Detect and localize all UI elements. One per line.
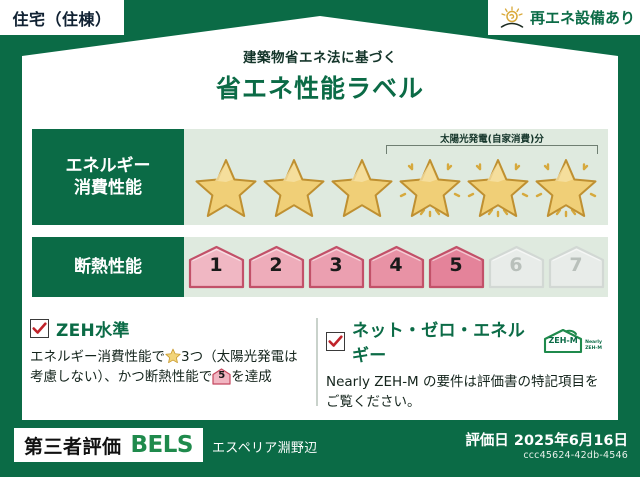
- insulation-performance-label: 断熱性能: [32, 237, 184, 297]
- grade-number: 2: [248, 256, 305, 275]
- energy-rating-body: 太陽光発電(自家消費)分: [184, 129, 608, 225]
- bels-certification-plate: 第三者評価 BELS: [14, 428, 203, 462]
- claim-zeh-header: ZEH水準: [30, 316, 306, 341]
- star-solar: [397, 152, 463, 218]
- property-name: エスペリア淵野辺: [212, 437, 318, 456]
- inline-grade-badge: 5: [212, 368, 231, 385]
- evaluation-id: ccc45624-42db-4546: [523, 450, 628, 461]
- claim-zeh-text3: を達成: [231, 369, 272, 385]
- page-title: 省エネ性能ラベル: [22, 69, 618, 105]
- star-filled: [193, 152, 259, 218]
- energy-performance-label: エネルギー 消費性能: [32, 129, 184, 225]
- badge-dwelling-type: 住宅（住棟）: [0, 0, 124, 35]
- zeh-m-sub-line2: ZEH-M: [585, 346, 602, 351]
- badge-renewable-label: 再エネ設備あり: [530, 7, 635, 28]
- grade-number: 7: [548, 256, 605, 275]
- energy-performance-label: 住宅（住棟） 再エネ設備あり 建築物省エネ法に基づく 省エネ性能ラベル: [0, 0, 640, 477]
- third-party-label: 第三者評価: [24, 432, 122, 459]
- claim-zeh-standard: ZEH水準 エネルギー消費性能で 3つ（太陽光発電は考慮しない）、かつ断熱性能で…: [30, 316, 306, 388]
- title-subtitle: 建築物省エネ法に基づく: [22, 46, 618, 66]
- grade-number: 1: [188, 256, 245, 275]
- inline-star-icon: [165, 348, 181, 364]
- insulation-label-text: 断熱性能: [74, 256, 142, 278]
- insulation-rating-body: 1 2 3 4 5 6 7: [184, 237, 608, 297]
- evaluation-date-value: 2025年6月16日: [514, 433, 628, 449]
- claim-zeh-body: エネルギー消費性能で 3つ（太陽光発電は考慮しない）、かつ断熱性能で 5を達成: [30, 348, 306, 388]
- evaluation-date: 評価日 2025年6月16日: [465, 429, 628, 450]
- grade-house-active: 4: [368, 245, 425, 289]
- grade-number: 3: [308, 256, 365, 275]
- title-block: 建築物省エネ法に基づく 省エネ性能ラベル: [22, 46, 618, 105]
- zeh-m-logo: ZEH-M Nearly ZEH-M: [542, 328, 602, 354]
- star-rating: [184, 149, 608, 221]
- grade-scale: 1 2 3 4 5 6 7: [184, 237, 608, 297]
- claim-nze-title: ネット・ゼロ・エネルギー: [352, 316, 531, 366]
- star-solar: [533, 152, 599, 218]
- bels-logo-text: BELS: [131, 432, 193, 458]
- inline-grade-number: 5: [212, 371, 231, 381]
- solar-annotation-text: 太陽光発電(自家消費)分: [384, 131, 600, 145]
- sun-icon: [499, 6, 525, 30]
- grade-house-active: 5: [428, 245, 485, 289]
- grade-house-inactive: 7: [548, 245, 605, 289]
- grade-number: 6: [488, 256, 545, 275]
- zeh-m-sub-line1: Nearly: [585, 340, 602, 345]
- insulation-performance-row: 断熱性能 1 2 3 4 5: [32, 237, 608, 297]
- claim-zeh-text1: エネルギー消費性能で: [30, 349, 165, 365]
- footer: 第三者評価 BELS エスペリア淵野辺 評価日 2025年6月16日 ccc45…: [0, 424, 640, 477]
- grade-house-active: 1: [188, 245, 245, 289]
- claim-net-zero-energy: ネット・ゼロ・エネルギー ZEH-M Nearly ZEH-M Nearly Z…: [326, 316, 602, 413]
- zeh-m-logo-text: ZEH-M: [542, 337, 584, 345]
- energy-label-line1: エネルギー: [66, 155, 151, 177]
- grade-house-active: 2: [248, 245, 305, 289]
- zeh-m-logo-subtext: Nearly ZEH-M: [585, 340, 602, 354]
- star-filled: [261, 152, 327, 218]
- claims-divider: [316, 318, 318, 406]
- claim-zeh-title: ZEH水準: [56, 316, 130, 341]
- grade-number: 4: [368, 256, 425, 275]
- energy-performance-row: エネルギー 消費性能 太陽光発電(自家消費)分: [32, 129, 608, 225]
- grade-house-active: 3: [308, 245, 365, 289]
- grade-number: 5: [428, 256, 485, 275]
- badge-renewable-equipment: 再エネ設備あり: [488, 0, 640, 35]
- evaluation-date-label: 評価日: [465, 433, 509, 449]
- grade-house-inactive: 6: [488, 245, 545, 289]
- energy-label-line2: 消費性能: [74, 177, 142, 199]
- checkbox-net-zero-checked: [326, 332, 345, 351]
- star-filled: [329, 152, 395, 218]
- star-solar: [465, 152, 531, 218]
- checkbox-zeh-checked: [30, 319, 49, 338]
- claim-nze-header: ネット・ゼロ・エネルギー ZEH-M Nearly ZEH-M: [326, 316, 602, 366]
- badge-dwelling-label: 住宅（住棟）: [12, 6, 111, 30]
- claim-nze-body: Nearly ZEH-M の要件は評価書の特記項目をご覧ください。: [326, 373, 602, 413]
